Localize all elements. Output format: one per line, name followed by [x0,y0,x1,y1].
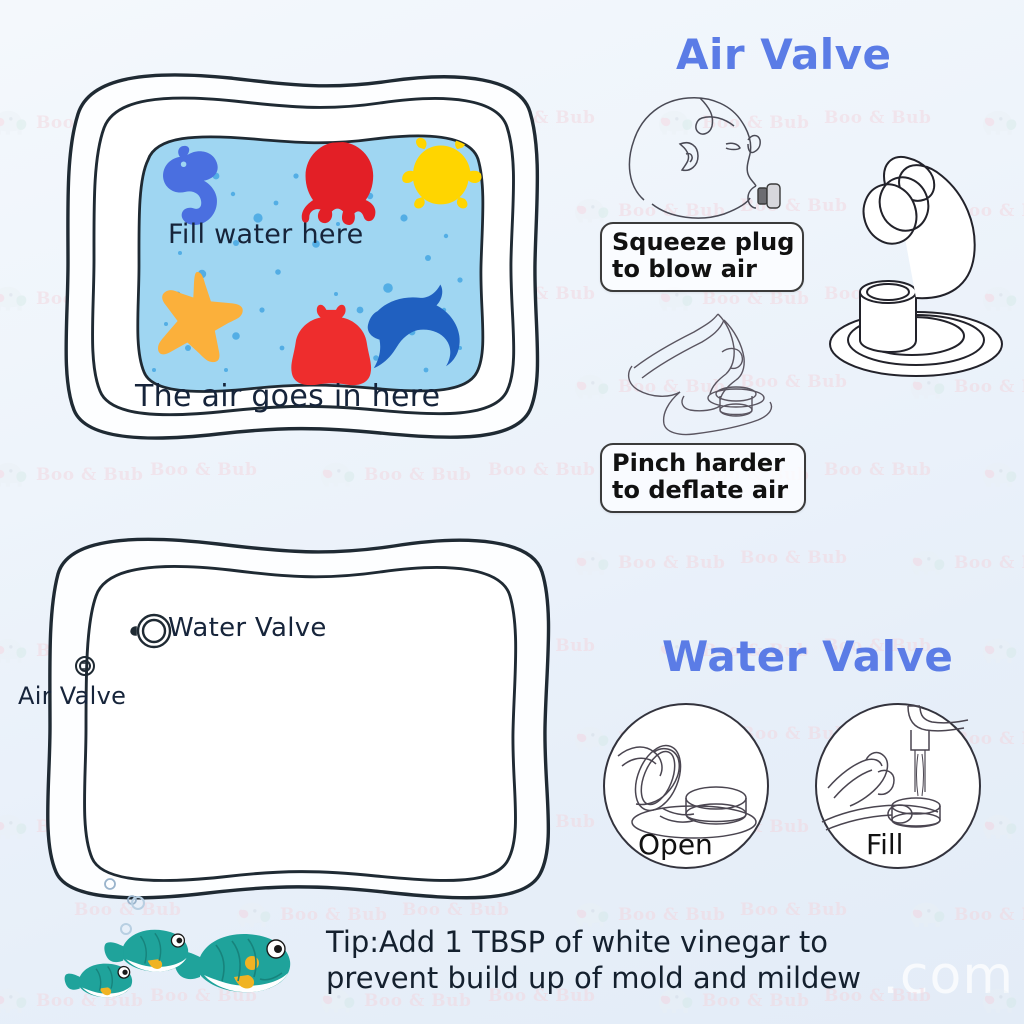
elephant-icon [0,284,30,314]
ear [680,143,698,171]
finger-upper-edge [634,314,718,368]
watermark-tile: Boo & Bub [318,460,471,490]
watermark-tile: Boo & Bub [740,900,847,920]
watermark-label: Boo & Bub [740,548,847,568]
watermark-label: Boo & Bub [402,900,509,920]
elephant-icon [980,636,1020,666]
elephant-icon [980,812,1020,842]
tip-text-block: Tip:Add 1 TBSP of white vinegar to preve… [326,925,946,997]
infographic-canvas: Boo & BubBoo & BubBoo & BubBoo & BubBoo … [0,0,1024,1024]
fish-large-pupil [274,945,282,953]
watermark-tile: Boo & Bub [150,460,257,480]
watermark-tile: Boo & Bub [572,548,725,578]
watermark-label: Boo & Bub [150,460,257,480]
hair-lock [696,98,734,134]
callout-pinch-harder: Pinch harder to deflate air [600,443,806,513]
nose-bridge [747,154,756,186]
fish-small [65,964,133,998]
air-valve-closeup-illustration [812,118,1024,384]
watermark-label: Boo & Bub [954,905,1024,925]
watermark-tile: Boo & Bub [0,460,143,490]
callout-pinch-line1: Pinch harder [612,450,794,477]
watermark-label: Boo & Bub [618,553,725,573]
watermark-label: Boo & Bub [954,553,1024,573]
callout-squeeze-line1: Squeeze plug [612,229,792,256]
fish-decoration-group [78,885,318,1020]
watermark-label: Boo & Bub [36,465,143,485]
callout-squeeze-line2: to blow air [612,256,792,283]
head-blowing-into-plug-illustration [600,82,825,217]
jaw [652,198,750,218]
elephant-icon [908,548,948,578]
air-valve-plug-icon [758,184,780,208]
finger-upper-edge2 [642,320,724,378]
fingers-pinching-valve-illustration [622,306,802,440]
fill-water-here-label: Fill water here [168,219,364,250]
watermark-tile: Boo & Bub [980,460,1024,490]
elephant-icon [572,372,612,402]
step-open-label: Open [638,828,713,861]
watermark-tile: Boo & Bub [980,812,1024,842]
fish-large [174,934,290,992]
watermark-tile: Boo & Bub [402,900,509,920]
elephant-icon [318,460,358,490]
fish-large-spot [245,956,259,970]
palm-edge [629,366,680,396]
callout-pinch-line2: to deflate air [612,477,794,504]
elephant-icon [0,986,30,1016]
elephant-icon [572,548,612,578]
watermark-label: Boo & Bub [740,900,847,920]
eye [726,143,740,149]
tip-line-2: prevent build up of mold and mildew [326,961,946,997]
section-title-air-valve: Air Valve [676,30,892,79]
watermark-label: Boo & Bub [618,905,725,925]
watermark-tile: Boo & Bub [488,460,595,480]
mat-water-valve-label: Water Valve [168,613,327,643]
watermark-label: Boo & Bub [488,460,595,480]
watermark-tile: Boo & Bub [824,460,931,480]
mat-surface [664,392,772,435]
tip-line-1: Tip:Add 1 TBSP of white vinegar to [326,925,946,961]
elephant-icon [0,460,30,490]
watermark-tile: Boo & Bub [740,548,847,568]
watermark-label: Boo & Bub [364,465,471,485]
elephant-icon [0,108,30,138]
step-fill-label: Fill [866,828,903,861]
air-goes-in-here-label: The air goes in here [135,379,440,414]
section-title-water-valve: Water Valve [662,632,953,681]
elephant-icon [980,460,1020,490]
watermark-tile: Boo & Bub [980,636,1024,666]
mat-air-valve-label: Air Valve [18,682,126,710]
fish-bubbles [121,897,144,934]
lips [748,186,756,208]
callout-squeeze-plug: Squeeze plug to blow air [600,222,804,292]
watermark-label: Boo & Bub [824,460,931,480]
watermark-tile: Boo & Bub [908,548,1024,578]
